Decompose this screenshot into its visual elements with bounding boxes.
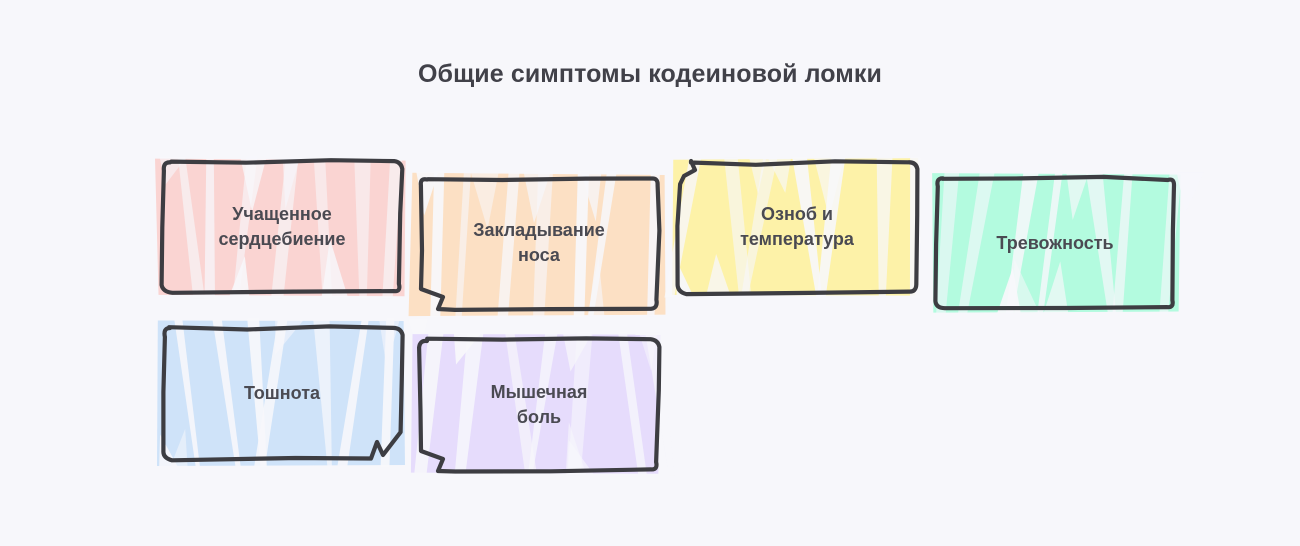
symptom-card[interactable]: Тошнота xyxy=(163,328,401,458)
card-sketch-shape xyxy=(920,162,1190,324)
symptom-card[interactable]: Учащенное сердцебиение xyxy=(163,162,401,292)
page-title: Общие симптомы кодеиновой ломки xyxy=(0,60,1300,89)
symptom-card[interactable]: Тревожность xyxy=(936,178,1174,308)
card-marker-fill xyxy=(664,158,920,298)
symptom-card[interactable]: Мышечная боль xyxy=(420,340,658,470)
card-marker-fill xyxy=(932,171,1204,313)
card-sketch-shape xyxy=(404,162,674,324)
card-sketch-shape xyxy=(404,324,674,486)
card-sketch-shape xyxy=(147,146,417,308)
card-sketch-shape xyxy=(147,312,417,474)
diagram-canvas: Общие симптомы кодеиновой ломки Учащенно… xyxy=(0,0,1300,546)
card-marker-fill xyxy=(157,319,427,467)
symptom-card[interactable]: Закладывание носа xyxy=(420,178,658,308)
card-marker-fill xyxy=(155,157,406,299)
card-marker-fill xyxy=(409,171,666,317)
card-marker-fill xyxy=(411,332,675,476)
card-sketch-shape xyxy=(662,146,932,308)
symptom-card[interactable]: Озноб и температура xyxy=(678,162,916,292)
